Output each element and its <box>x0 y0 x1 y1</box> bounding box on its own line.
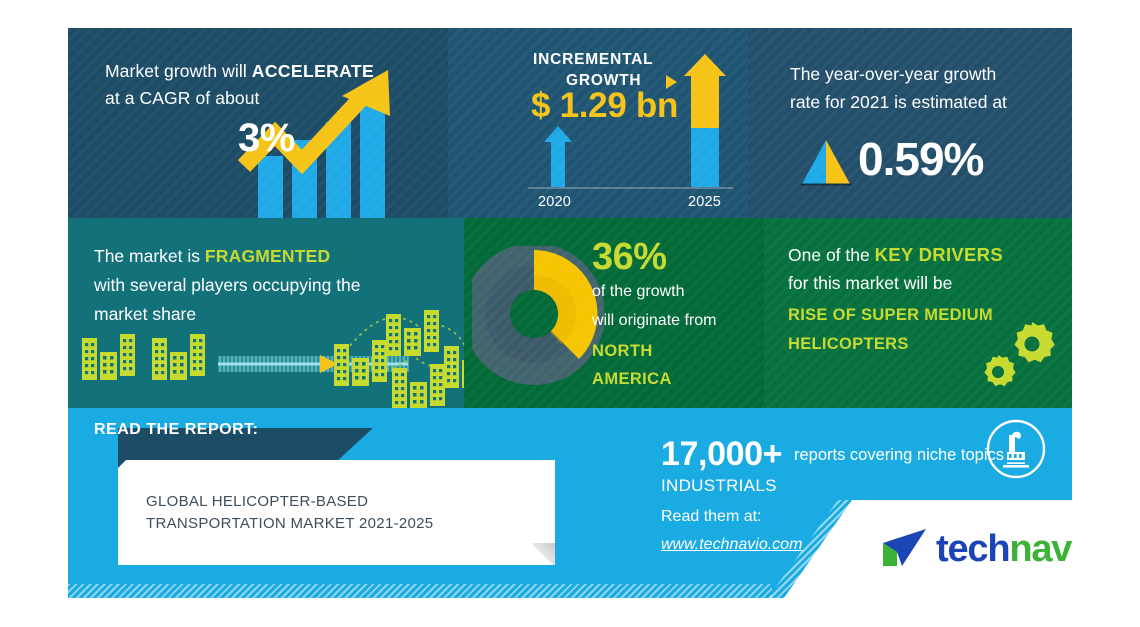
panel-key-drivers: One of the KEY DRIVERS for this market w… <box>764 218 1072 408</box>
technavio-wordmark: technavio <box>936 528 1072 571</box>
report-title-line1: GLOBAL HELICOPTER-BASED <box>146 493 368 510</box>
cagr-value: 3% <box>238 116 295 161</box>
factory-industrial-icon <box>985 418 1047 480</box>
incremental-label-line1: INCREMENTAL <box>533 51 653 68</box>
driver-name-line2: HELICOPTERS <box>788 335 909 354</box>
website-url-link[interactable]: www.technavio.com <box>661 536 802 554</box>
report-category: INDUSTRIALS <box>661 476 777 496</box>
axis-label-start-year: 2020 <box>538 194 571 210</box>
cagr-second-line: at a CAGR of about <box>105 88 260 108</box>
yoy-line1: The year-over-year growth <box>790 64 996 84</box>
panel-cagr: Market growth will ACCELERATE at a CAGR … <box>68 28 448 218</box>
footer-stripe-texture <box>68 584 772 598</box>
triangle-growth-icon <box>800 138 854 186</box>
donut-chart-icon <box>472 246 604 388</box>
incremental-growth-value: $ 1.29 bn <box>531 86 678 126</box>
donut-region-line1: NORTH <box>592 342 653 361</box>
reports-count-suffix: reports covering niche topics <box>794 446 1004 465</box>
page-fold-corner <box>533 543 555 565</box>
donut-region-line2: AMERICA <box>592 370 672 389</box>
donut-percentage: 36% <box>592 236 667 279</box>
paper-plane-icon <box>880 526 930 570</box>
report-card[interactable]: GLOBAL HELICOPTER-BASED TRANSPORTATION M… <box>118 460 555 565</box>
panel-north-america-share: 36% of the growth will originate from NO… <box>464 218 764 408</box>
infographic-canvas: Market growth will ACCELERATE at a CAGR … <box>68 28 1072 598</box>
read-the-report-label: READ THE REPORT: <box>94 421 258 439</box>
logo-text-navio: navio <box>1009 528 1072 570</box>
axis-label-end-year: 2025 <box>688 194 721 210</box>
donut-line1: of the growth <box>592 282 685 301</box>
donut-line2: will originate from <box>592 311 716 330</box>
panel-fragmented-market: The market is FRAGMENTED with several pl… <box>68 218 464 408</box>
drivers-highlight: KEY DRIVERS <box>875 244 1003 265</box>
gears-icon <box>976 320 1062 394</box>
yoy-description: The year-over-year growth rate for 2021 … <box>790 60 1040 116</box>
panel-footer: READ THE REPORT: GLOBAL HELICOPTER-BASED… <box>68 408 1072 598</box>
yoy-line2: rate for 2021 is estimated at <box>790 92 1007 112</box>
driver-name-line1: RISE OF SUPER MEDIUM <box>788 306 993 325</box>
read-them-at-label: Read them at: <box>661 508 762 526</box>
report-title: GLOBAL HELICOPTER-BASED TRANSPORTATION M… <box>146 491 433 535</box>
reports-count: 17,000+ <box>661 435 782 474</box>
drivers-line1: One of the KEY DRIVERS <box>788 244 1003 266</box>
drivers-lead: One of the <box>788 245 875 265</box>
report-title-line2: TRANSPORTATION MARKET 2021-2025 <box>146 515 433 532</box>
panel-incremental-growth: INCREMENTAL GROWTH $ 1.29 bn 2020 2025 <box>448 28 748 218</box>
logo-text-tech: tech <box>936 528 1009 570</box>
drivers-line2: for this market will be <box>788 273 952 294</box>
city-buildings-network-icon <box>68 218 464 408</box>
cagr-lead-text: Market growth will <box>105 61 252 81</box>
yoy-value: 0.59% <box>858 132 983 186</box>
technavio-logo[interactable]: technavio <box>880 526 930 575</box>
panel-yoy-growth: The year-over-year growth rate for 2021 … <box>748 28 1072 218</box>
